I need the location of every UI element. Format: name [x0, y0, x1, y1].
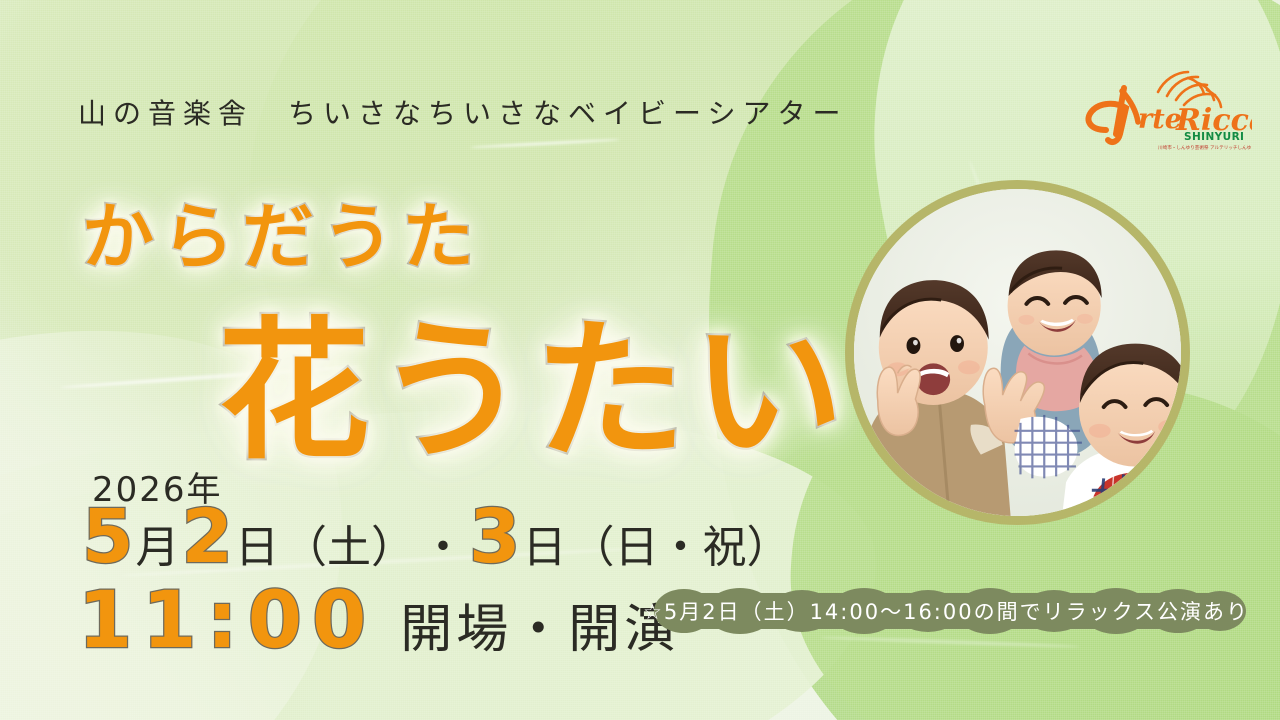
event-time-line: 11:00 開場・開演 — [78, 582, 680, 660]
title-hanautai: 花うたい — [218, 268, 850, 488]
event-time: 11:00 — [78, 582, 376, 660]
event-date-line: 5 月 2 日 （土） ・ 3 日 （日・祝） — [82, 500, 793, 574]
babies-photo-frame — [845, 180, 1190, 525]
date-separator: ・ — [417, 526, 469, 570]
svg-text:川崎市・しんゆり芸術祭 アルテリッチしんゆり: 川崎市・しんゆり芸術祭 アルテリッチしんゆり — [1158, 144, 1252, 151]
babies-photo — [854, 189, 1181, 516]
series-subtitle: 山の音楽舎 ちいさなちいさなベイビーシアター — [78, 92, 847, 132]
date-day1-weekday: （土） — [281, 526, 417, 570]
date-day2-number: 3 — [469, 500, 521, 574]
event-time-label: 開場・開演 — [400, 604, 680, 656]
relax-performance-banner: ☆5月2日（土）14:00〜16:00の間でリラックス公演あり — [644, 587, 1248, 635]
relax-performance-note: ☆5月2日（土）14:00〜16:00の間でリラックス公演あり — [644, 587, 1248, 635]
svg-text:SHINYURI: SHINYURI — [1184, 131, 1244, 143]
arte-ricca-logo: rte Ricca SHINYURI 川崎市・しんゆり芸術祭 アルテリッチしんゆ… — [1072, 58, 1252, 154]
poster-canvas: 山の音楽舎 ちいさなちいさなベイビーシアター rt — [0, 0, 1280, 720]
date-month-char: 月 — [134, 526, 182, 570]
date-day2-weekday: （日・祝） — [569, 526, 793, 570]
date-month-number: 5 — [82, 500, 134, 574]
date-day2-char: 日 — [521, 526, 569, 570]
date-day1-char: 日 — [233, 526, 281, 570]
date-day1-number: 2 — [182, 500, 234, 574]
